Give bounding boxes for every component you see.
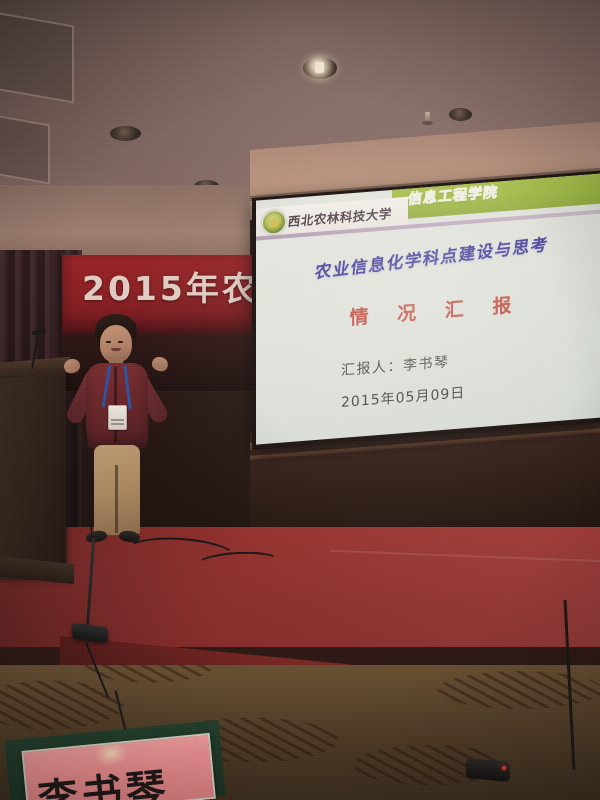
slide-presenter: 汇报人：李书琴 — [341, 351, 450, 380]
presenter-face — [106, 339, 126, 353]
downlight-icon — [449, 108, 472, 121]
presenter-shoe — [85, 529, 108, 543]
conference-photo: 2015年农业 西北农林科技大学 信息工程学院 农业信息化学科点建设与思考 情 … — [0, 0, 600, 800]
eye — [118, 341, 123, 343]
downlight-icon — [110, 126, 141, 141]
presenter-hand-right — [150, 355, 170, 373]
status-led-icon — [502, 766, 506, 770]
slide-title: 农业信息化学科点建设与思考 — [281, 227, 584, 288]
downlight-icon — [303, 57, 337, 79]
mouth — [111, 348, 121, 351]
sprinkler-head-icon — [425, 112, 430, 125]
presenter — [64, 305, 184, 565]
projection-screen: 西北农林科技大学 信息工程学院 农业信息化学科点建设与思考 情 况 汇 报 汇报… — [252, 171, 600, 450]
presenter-hand-left — [62, 357, 81, 375]
slide-surface: 西北农林科技大学 信息工程学院 农业信息化学科点建设与思考 情 况 汇 报 汇报… — [256, 174, 600, 445]
eye — [106, 341, 111, 343]
event-banner-text: 2015年农业 — [82, 262, 262, 310]
slide-date: 2015年05月09日 — [341, 382, 465, 412]
lectern — [0, 365, 66, 580]
microphone-stand-base — [466, 758, 510, 782]
name-placard-group: 李书琴 — [21, 733, 211, 800]
conference-id-badge — [108, 405, 127, 430]
trouser-seam — [115, 465, 118, 533]
slide-subtitle: 情 况 汇 报 — [296, 286, 576, 335]
